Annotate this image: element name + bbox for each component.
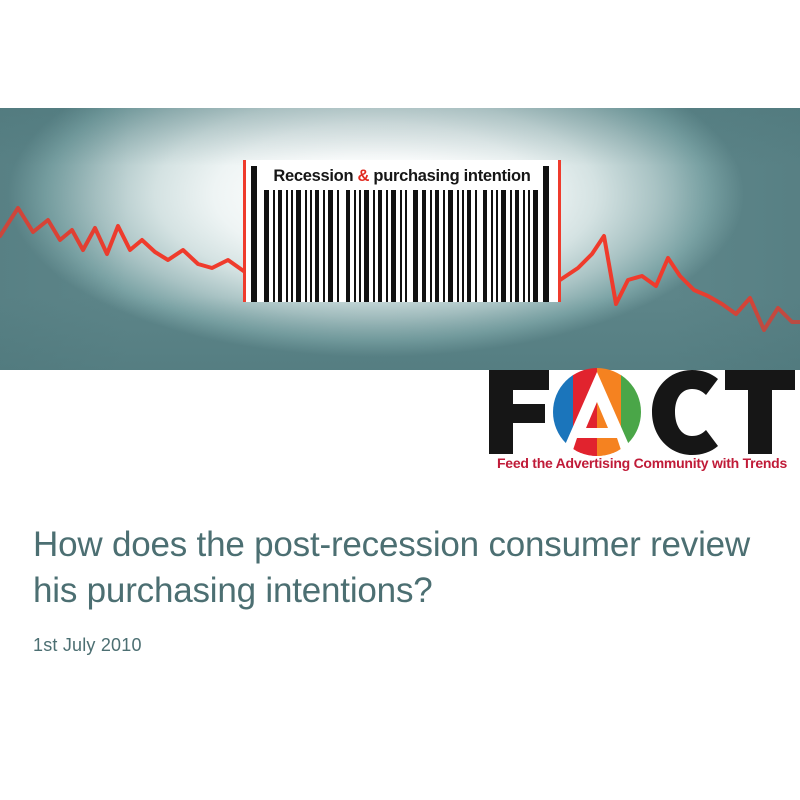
title-block: How does the post-recession consumer rev… xyxy=(33,522,763,656)
letter-f-glyph xyxy=(489,370,549,454)
fact-wordmark xyxy=(487,366,797,458)
page-title: How does the post-recession consumer rev… xyxy=(33,522,763,613)
barcode-graphic: Recession & purchasing intention xyxy=(243,160,561,302)
barcode-caption-text: Recession & purchasing intention xyxy=(243,168,561,185)
barcode-bar-stripes xyxy=(247,190,557,302)
fact-logo: Feed the Advertising Community with Tren… xyxy=(487,366,797,478)
a-crossbar-gap xyxy=(575,428,619,438)
trend-line-right-segment xyxy=(560,236,800,330)
caption-part-after: purchasing intention xyxy=(369,167,530,185)
fact-tagline: Feed the Advertising Community with Tren… xyxy=(487,456,797,470)
trend-line-left-segment xyxy=(0,208,245,272)
letter-a-emblem xyxy=(547,366,649,458)
barcode-guard-bar-right xyxy=(543,166,549,302)
presentation-date: 1st July 2010 xyxy=(33,635,763,656)
letter-t-glyph xyxy=(725,370,795,454)
barcode-guard-bar-left xyxy=(251,166,257,302)
caption-part-before: Recession xyxy=(273,167,357,185)
letter-c-glyph xyxy=(652,370,718,455)
barcode-stripe-field xyxy=(247,190,557,302)
caption-ampersand: & xyxy=(358,167,370,185)
